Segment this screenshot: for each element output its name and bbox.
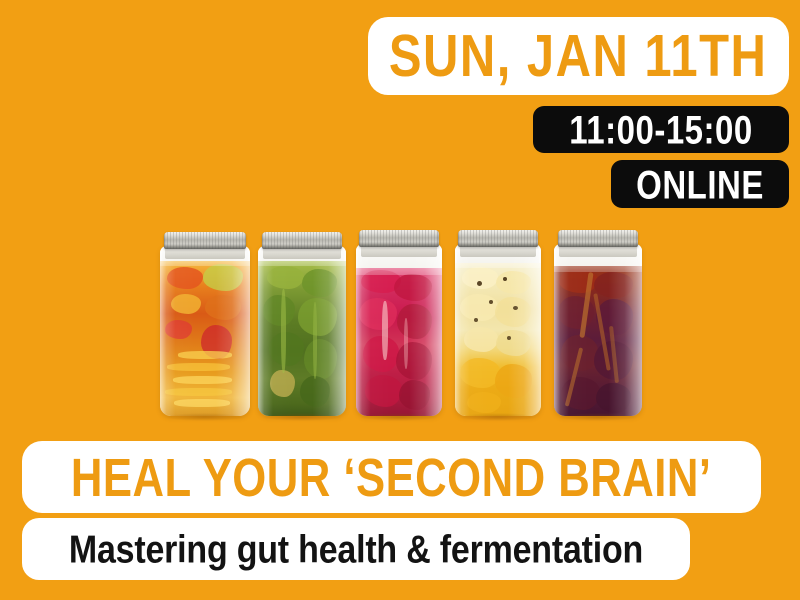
jar-kimchi-orange [160, 232, 250, 416]
jar-glass-reflection [258, 246, 346, 416]
jar-body [258, 246, 346, 416]
jar-body [160, 246, 250, 416]
jar-lid-icon [164, 232, 247, 249]
jar-glass-reflection [455, 244, 541, 416]
time-badge: 11:00-15:00 [533, 106, 789, 153]
jar-glass-reflection [554, 244, 642, 416]
jar-lid-icon [558, 230, 639, 247]
date-banner: SUN, JAN 11TH [368, 17, 789, 95]
jar-magenta-beet [356, 230, 442, 416]
jar-glass-reflection [356, 244, 442, 416]
jar-dark-red-purple [554, 230, 642, 416]
jar-lid-icon [359, 230, 438, 247]
jar-green-peppers [258, 232, 346, 416]
jar-glass-reflection [160, 246, 250, 416]
jar-lid-icon [262, 232, 343, 249]
headline-bar: HEAL YOUR ‘SECOND BRAIN’ [22, 441, 761, 513]
headline-text: HEAL YOUR ‘SECOND BRAIN’ [71, 450, 712, 504]
jar-body [356, 244, 442, 416]
date-text: SUN, JAN 11TH [389, 27, 768, 86]
jar-lid-icon [458, 230, 537, 247]
subtitle-text: Mastering gut health & fermentation [69, 529, 643, 568]
jar-body [455, 244, 541, 416]
jar-body [554, 244, 642, 416]
event-promo-poster: SUN, JAN 11TH 11:00-15:00 ONLINE HEAL YO… [0, 0, 800, 600]
jar-sauerkraut-golden [455, 230, 541, 416]
time-text: 11:00-15:00 [569, 109, 752, 149]
online-text: ONLINE [636, 164, 764, 204]
subtitle-bar: Mastering gut health & fermentation [22, 518, 690, 580]
online-badge: ONLINE [611, 160, 789, 208]
